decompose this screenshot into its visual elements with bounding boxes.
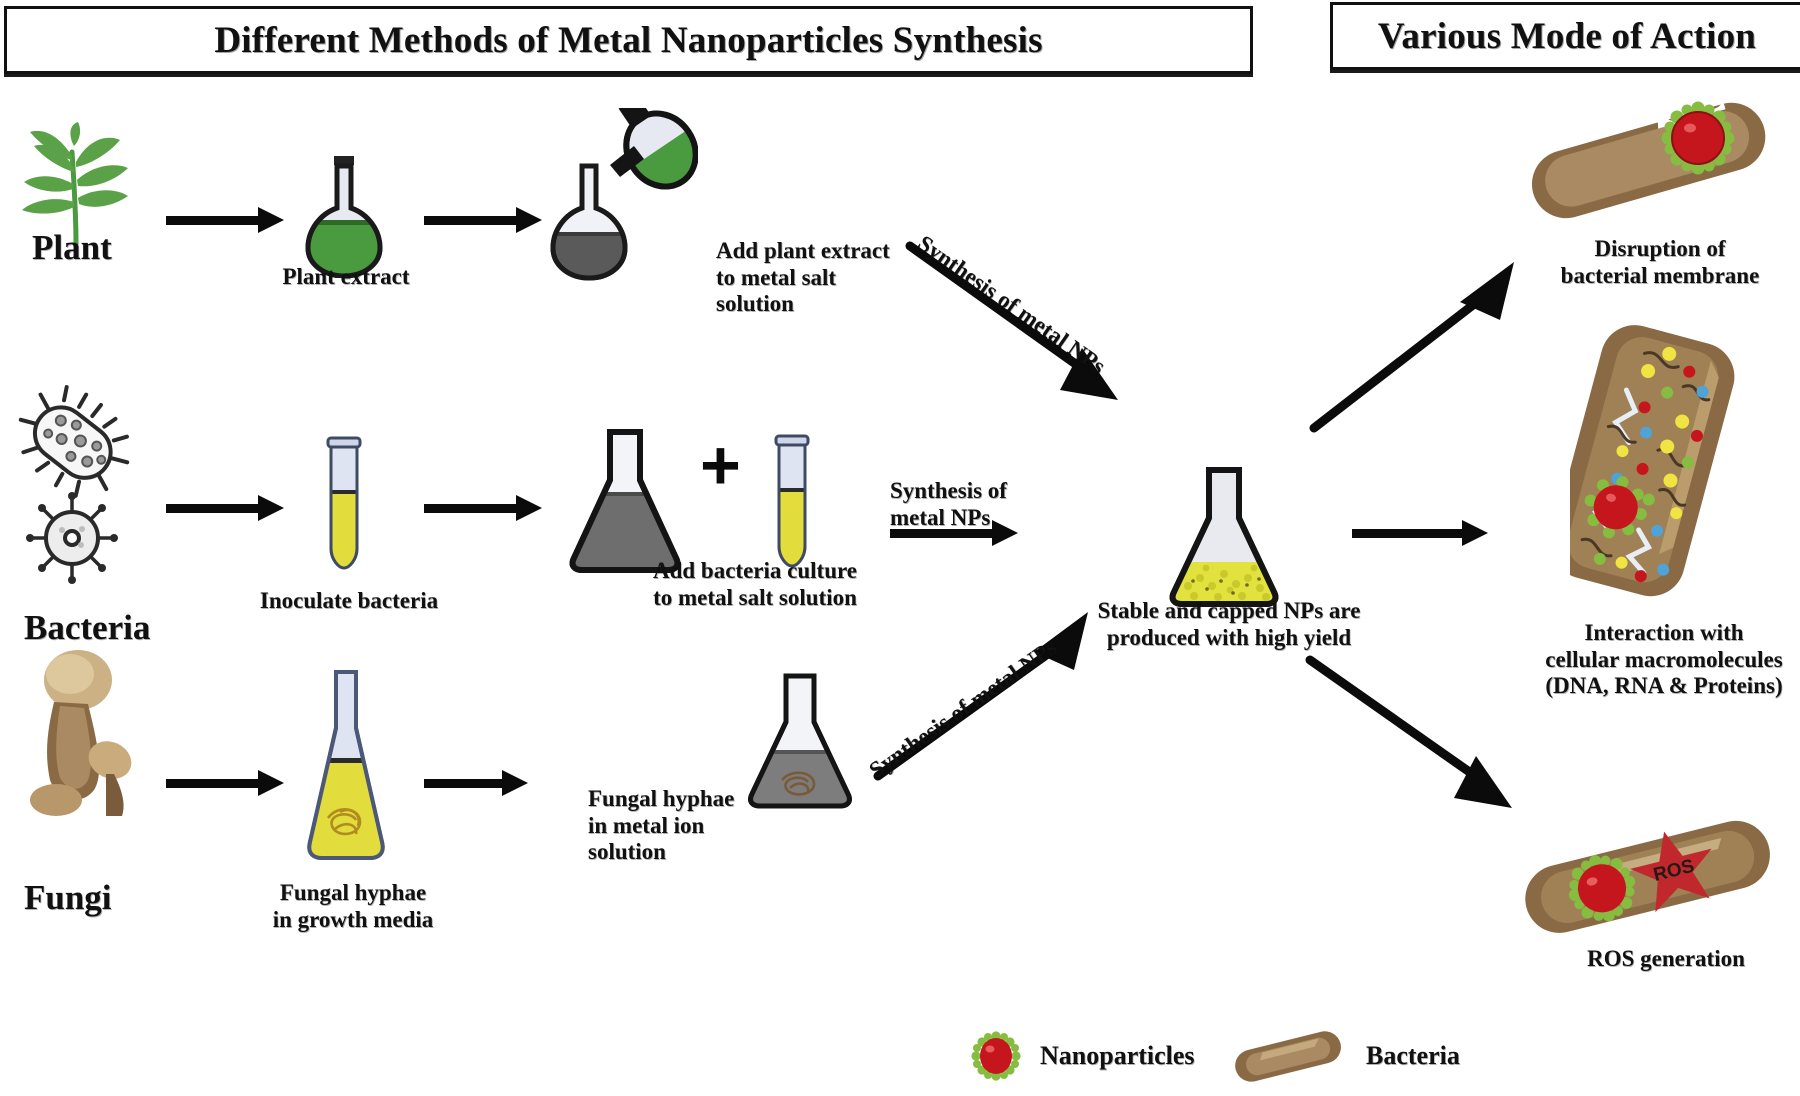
arrow-bacteria-to-center (890, 520, 1020, 546)
header-title-synthesis: Different Methods of Metal Nanoparticles… (214, 19, 1042, 62)
round-bottom-flask-plant-extract-icon (296, 146, 392, 278)
figure-canvas: Different Methods of Metal Nanoparticles… (0, 0, 1800, 1096)
caption-macromolecule-interaction: Interaction with cellular macromolecules… (1528, 620, 1800, 700)
arrow-center-to-macromolecule-interaction (1352, 520, 1492, 546)
legend-item-nanoparticles: Nanoparticles (968, 1028, 1195, 1084)
header-box-synthesis: Different Methods of Metal Nanoparticles… (4, 6, 1253, 74)
caption-add-plant-extract: Add plant extract to metal salt solution (716, 238, 916, 318)
nanoparticle-icon (968, 1028, 1024, 1084)
legend-label-bacteria: Bacteria (1366, 1041, 1460, 1071)
pouring-flask-plant-icon (548, 108, 698, 283)
bacterium-and-virus-icon (10, 380, 140, 590)
legend-label-nanoparticles: Nanoparticles (1040, 1041, 1195, 1071)
bacteria-rod-icon (1230, 1028, 1350, 1084)
arrow-inoculate-to-mix (424, 495, 542, 521)
caption-plant-extract: Plant extract (266, 264, 426, 291)
test-tube-bacteria-culture-icon (766, 430, 818, 570)
bacterium-ros-generation-icon: ROS (1516, 808, 1786, 938)
arrow-hyphae-to-metal-ion (424, 770, 528, 796)
caption-inoculate-bacteria: Inoculate bacteria (254, 588, 444, 615)
source-label-plant: Plant (32, 228, 112, 269)
header-box-mode-of-action: Various Mode of Action (1330, 2, 1800, 70)
arrow-bacteria-to-inoculate (166, 495, 284, 521)
source-label-fungi: Fungi (24, 878, 112, 919)
bacterium-membrane-disruption-icon (1520, 92, 1780, 222)
arrow-center-to-membrane-disruption (1300, 240, 1530, 440)
caption-add-bacteria-culture: Add bacteria culture to metal salt solut… (620, 558, 890, 611)
arrow-fungi-to-hyphae (166, 770, 284, 796)
arrow-extract-to-mix (424, 207, 542, 233)
caption-stable-capped-nps: Stable and capped NPs are produced with … (1084, 598, 1374, 651)
erlenmeyer-flask-fungal-metal-ion-icon (740, 668, 860, 810)
bacterium-macromolecule-interaction-icon (1570, 320, 1740, 610)
plus-symbol-bacteria-row: + (700, 430, 741, 500)
arrow-plant-to-extract (166, 207, 284, 233)
flask-fungal-hyphae-growth-media-icon (298, 662, 394, 866)
test-tube-inoculate-bacteria-icon (318, 432, 370, 572)
header-title-mode-of-action: Various Mode of Action (1378, 15, 1756, 58)
arrow-center-to-ros-generation (1300, 650, 1530, 840)
erlenmeyer-flask-metal-salt-icon (560, 422, 690, 574)
legend-item-bacteria: Bacteria (1230, 1028, 1460, 1084)
erlenmeyer-flask-with-nanoparticles-icon (1162, 462, 1286, 610)
caption-ros-generation: ROS generation (1546, 946, 1786, 973)
caption-fungal-hyphae-growth-media: Fungal hyphae in growth media (248, 880, 458, 933)
mushroom-icon (10, 640, 150, 820)
caption-membrane-disruption: Disruption of bacterial membrane (1530, 236, 1790, 289)
